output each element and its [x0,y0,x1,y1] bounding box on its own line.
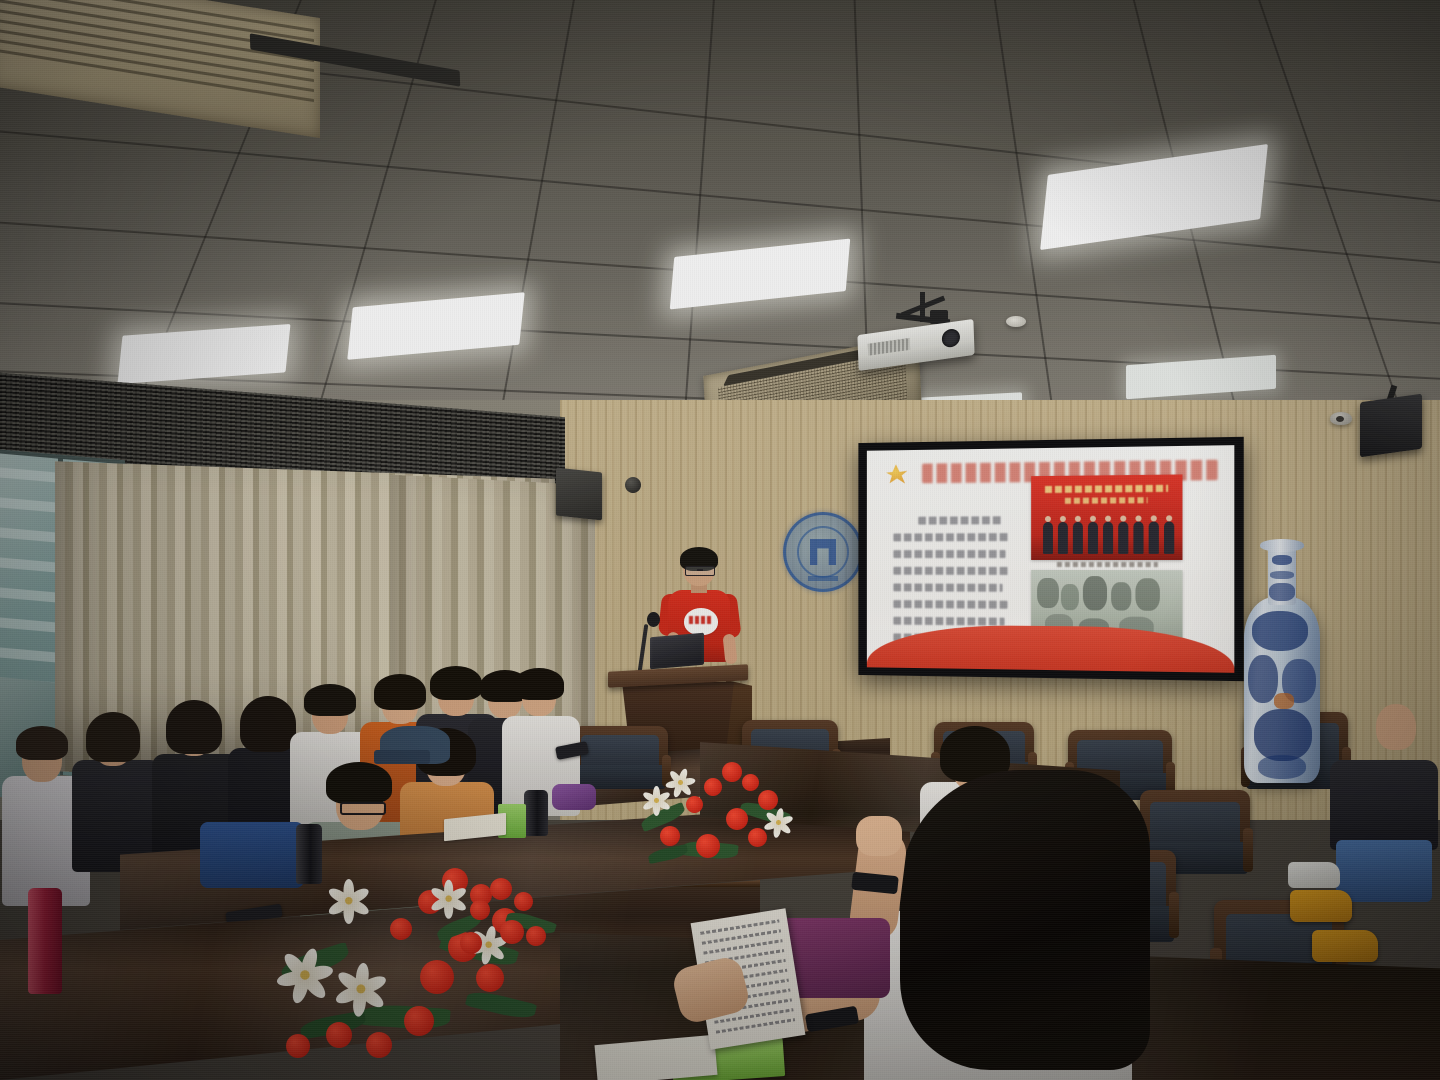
shirt-speech-bubble-icon [684,608,718,635]
vase-lip [1260,539,1304,552]
screen-surface [867,445,1234,673]
projection-screen [858,437,1243,681]
floral-centrepiece [630,756,800,876]
conference-room-photo: Student presentation in a university con… [0,0,1440,1080]
wall-speaker-icon [556,468,602,521]
dome-camera-icon [1330,412,1352,425]
porcelain-vase [1238,545,1326,785]
university-crest-emblem [783,512,863,592]
lily-flower [335,963,385,1013]
dome-camera-icon [625,477,641,493]
smoke-detector-icon [1006,316,1026,327]
party-emblem-icon [884,462,913,486]
thermos-flask [524,790,548,836]
wall-speaker-icon [1360,394,1422,458]
lily-flower [764,808,792,836]
yellow-sneaker [1312,930,1378,962]
lily-flower [327,879,393,945]
white-sneaker [1288,862,1340,888]
audience-person [72,712,164,872]
yellow-sneaker [1290,890,1352,922]
hand [856,816,902,856]
lily-flower [277,947,330,1000]
long-hair [900,770,1150,1070]
purple-bag [552,784,596,810]
vase-body [1244,597,1320,783]
audience-person [1330,700,1440,900]
slide-photo-caption [1057,562,1158,567]
presentation-slide [867,445,1234,673]
floral-centrepiece [430,874,560,974]
glasses-icon [685,566,715,576]
slide-photo-stage [1031,474,1182,560]
lily-flower [430,880,466,916]
red-thermos-flask [28,888,62,994]
lily-flower [666,768,694,796]
